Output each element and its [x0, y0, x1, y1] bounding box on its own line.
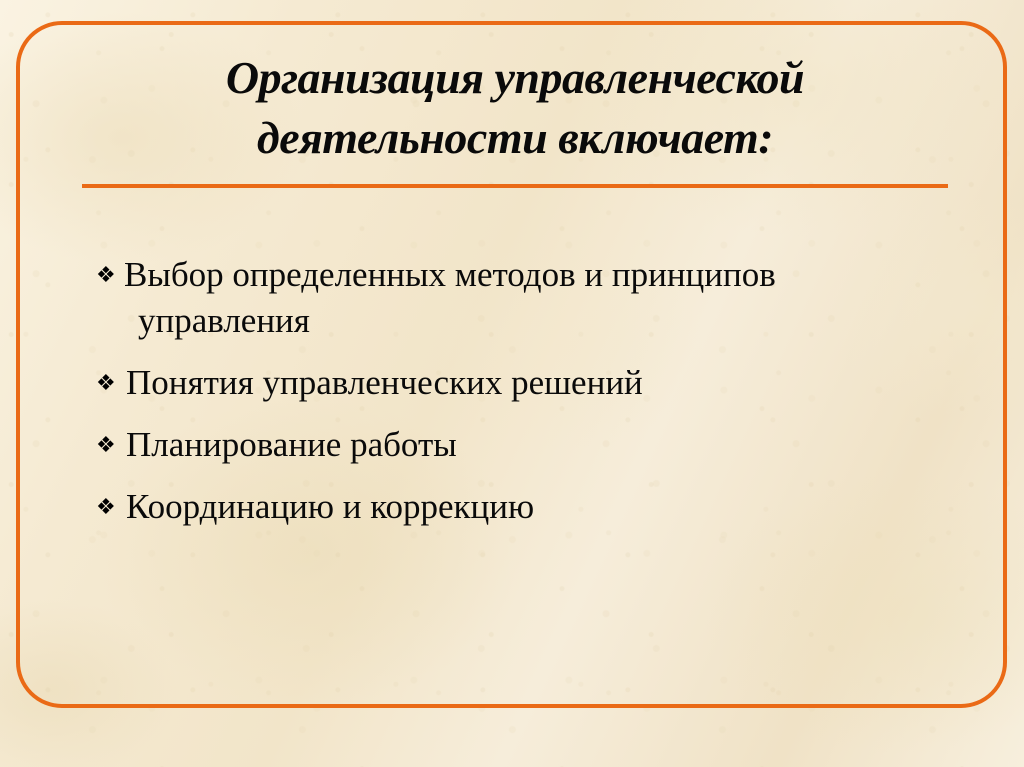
list-item: ❖ Выбор определенных методов и принципов… — [96, 252, 936, 344]
list-item: ❖ Координацию и коррекцию — [96, 484, 936, 530]
title-divider-rule — [82, 184, 948, 188]
bullet-list: ❖ Выбор определенных методов и принципов… — [96, 252, 936, 546]
list-item-text: Понятия управленческих решений — [122, 360, 936, 406]
diamond-bullet-icon: ❖ — [96, 423, 122, 469]
list-item: ❖ Понятия управленческих решений — [96, 360, 936, 406]
list-item-text: Координацию и коррекцию — [122, 484, 936, 530]
list-item-text: Планирование работы — [122, 422, 936, 468]
list-item-text: Выбор определенных методов и принципов у… — [122, 252, 936, 344]
diamond-bullet-icon: ❖ — [96, 253, 122, 299]
title-line-1: Организация управленческой — [80, 48, 950, 108]
diamond-bullet-icon: ❖ — [96, 485, 122, 531]
presentation-slide: Организация управленческой деятельности … — [0, 0, 1024, 767]
list-item: ❖ Планирование работы — [96, 422, 936, 468]
slide-title: Организация управленческой деятельности … — [80, 48, 950, 168]
title-line-2: деятельности включает: — [80, 108, 950, 168]
diamond-bullet-icon: ❖ — [96, 361, 122, 407]
